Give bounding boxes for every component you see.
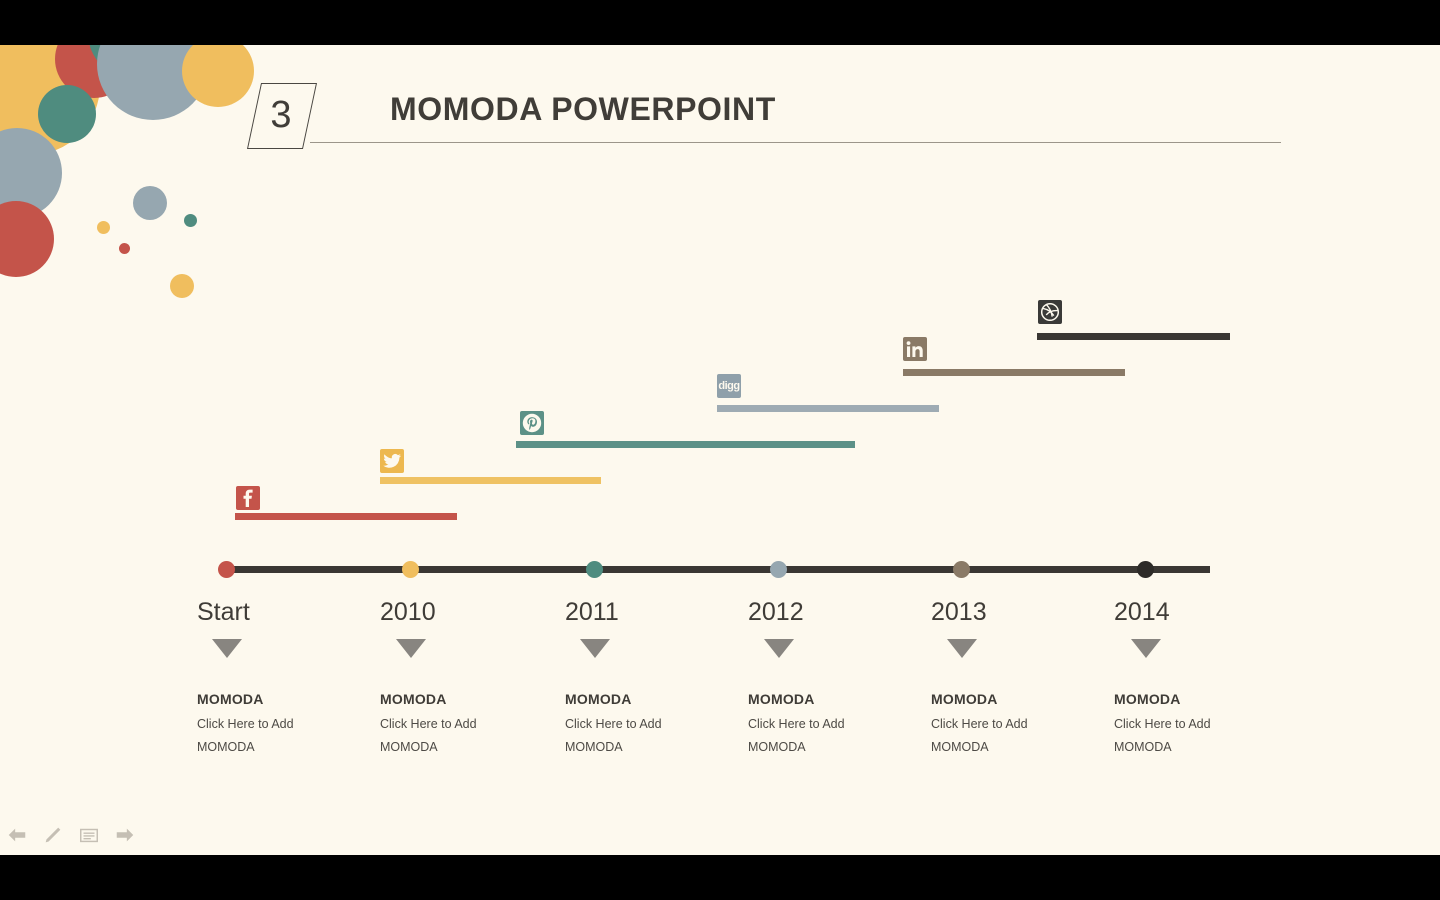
circle-red-bottom-left (0, 201, 54, 277)
digg-bar[interactable] (717, 405, 939, 412)
timeline-block-line-1: Click Here to Add (748, 713, 918, 736)
timeline-label-start: Start (197, 598, 250, 627)
timeline-label-2012: 2012 (748, 598, 804, 627)
slide-header: 3 MOMODA POWERPOINT (0, 45, 1440, 155)
timeline-block-line-2: MOMODA (931, 736, 1101, 759)
timeline-pointer-triangle (764, 639, 794, 658)
slideshow-toolbar[interactable] (6, 820, 136, 850)
timeline-block-line-2: MOMODA (565, 736, 735, 759)
timeline-block-heading: MOMODA (1114, 691, 1284, 707)
circle-yellow-dot-bottom (170, 274, 194, 298)
circle-grey-center-small (133, 186, 167, 220)
title-divider (310, 142, 1281, 143)
previous-slide-icon[interactable] (6, 824, 28, 846)
timeline-pointer-triangle (396, 639, 426, 658)
timeline-block-heading: MOMODA (931, 691, 1101, 707)
timeline-axis-line (226, 566, 1210, 573)
circle-teal-dot-tiny (184, 214, 197, 227)
timeline-block-heading: MOMODA (748, 691, 918, 707)
timeline-dot-2010[interactable] (402, 561, 419, 578)
screen: 3 MOMODA POWERPOINT digg StartMOMODAClic… (0, 0, 1440, 900)
facebook-icon[interactable] (236, 486, 260, 510)
timeline-block-line-1: Click Here to Add (380, 713, 550, 736)
timeline-block-line-1: Click Here to Add (565, 713, 735, 736)
timeline-pointer-triangle (947, 639, 977, 658)
timeline-text-block[interactable]: MOMODAClick Here to AddMOMODA (197, 691, 367, 759)
letterbox-top (0, 0, 1440, 45)
timeline-block-heading: MOMODA (197, 691, 367, 707)
pen-tool-icon[interactable] (42, 824, 64, 846)
timeline-label-2013: 2013 (931, 598, 987, 627)
digg-icon[interactable]: digg (717, 374, 741, 398)
timeline-dot-2014[interactable] (1137, 561, 1154, 578)
timeline-text-block[interactable]: MOMODAClick Here to AddMOMODA (748, 691, 918, 759)
timeline-text-block[interactable]: MOMODAClick Here to AddMOMODA (565, 691, 735, 759)
letterbox-bottom (0, 855, 1440, 900)
timeline-label-2014: 2014 (1114, 598, 1170, 627)
circle-red-dot-tiny (119, 243, 130, 254)
timeline-block-heading: MOMODA (380, 691, 550, 707)
timeline-block-line-1: Click Here to Add (1114, 713, 1284, 736)
timeline-pointer-triangle (212, 639, 242, 658)
digg-wordmark: digg (718, 381, 739, 392)
pinterest-icon[interactable] (520, 411, 544, 435)
timeline-block-line-2: MOMODA (380, 736, 550, 759)
timeline-label-2010: 2010 (380, 598, 436, 627)
page-title: MOMODA POWERPOINT (390, 91, 776, 128)
timeline-block-line-2: MOMODA (748, 736, 918, 759)
menu-icon[interactable] (78, 824, 100, 846)
timeline-dot-2011[interactable] (586, 561, 603, 578)
timeline-label-2011: 2011 (565, 598, 619, 627)
facebook-bar[interactable] (235, 513, 457, 520)
twitter-icon[interactable] (380, 449, 404, 473)
timeline-block-line-2: MOMODA (1114, 736, 1284, 759)
timeline-block-line-1: Click Here to Add (931, 713, 1101, 736)
linkedin-bar[interactable] (903, 369, 1125, 376)
timeline-pointer-triangle (580, 639, 610, 658)
timeline-text-block[interactable]: MOMODAClick Here to AddMOMODA (931, 691, 1101, 759)
timeline-text-block[interactable]: MOMODAClick Here to AddMOMODA (1114, 691, 1284, 759)
timeline-block-heading: MOMODA (565, 691, 735, 707)
timeline-block-line-2: MOMODA (197, 736, 367, 759)
linkedin-icon[interactable] (903, 337, 927, 361)
timeline-dot-2013[interactable] (953, 561, 970, 578)
dribbble-icon[interactable] (1038, 300, 1062, 324)
timeline-pointer-triangle (1131, 639, 1161, 658)
circle-yellow-dot-small (97, 221, 110, 234)
timeline-dot-2012[interactable] (770, 561, 787, 578)
timeline-dot-start[interactable] (218, 561, 235, 578)
dribbble-bar[interactable] (1037, 333, 1230, 340)
slide-number-text: 3 (254, 83, 308, 147)
timeline-block-line-1: Click Here to Add (197, 713, 367, 736)
slide-canvas[interactable]: 3 MOMODA POWERPOINT digg StartMOMODAClic… (0, 45, 1440, 855)
next-slide-icon[interactable] (114, 824, 136, 846)
twitter-bar[interactable] (380, 477, 601, 484)
pinterest-bar[interactable] (516, 441, 855, 448)
timeline-text-block[interactable]: MOMODAClick Here to AddMOMODA (380, 691, 550, 759)
